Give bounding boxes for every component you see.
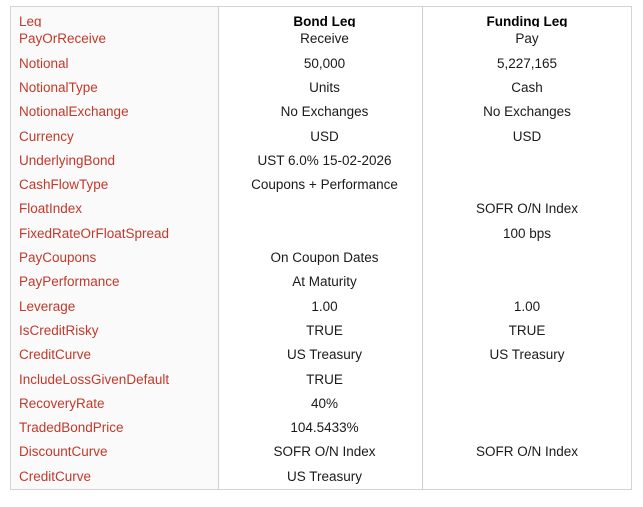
label-cell: DiscountCurve bbox=[19, 440, 218, 464]
funding-leg-cell bbox=[423, 368, 631, 392]
bond-leg-cell: 50,000 bbox=[227, 52, 422, 76]
funding-leg-cell: US Treasury bbox=[423, 343, 631, 367]
bond-leg-cell bbox=[227, 197, 422, 221]
bond-leg-cell: TRUE bbox=[227, 368, 422, 392]
label-cell: TradedBondPrice bbox=[19, 416, 218, 440]
column-funding-leg: Funding Leg Pay5,227,165CashNo Exchanges… bbox=[423, 7, 631, 489]
bond-leg-cell: US Treasury bbox=[227, 465, 422, 489]
funding-leg-cell: 5,227,165 bbox=[423, 52, 631, 76]
funding-leg-cell: Pay bbox=[423, 27, 631, 51]
column-gutter bbox=[219, 7, 227, 489]
funding-leg-cell: SOFR O/N Index bbox=[423, 440, 631, 464]
bond-leg-cell: SOFR O/N Index bbox=[227, 440, 422, 464]
funding-leg-cell: Cash bbox=[423, 76, 631, 100]
label-cell: PayPerformance bbox=[19, 270, 218, 294]
term-sheet-table: Leg PayOrReceiveNotionalNotionalTypeNoti… bbox=[10, 6, 632, 490]
label-cell: Leverage bbox=[19, 295, 218, 319]
label-cell: UnderlyingBond bbox=[19, 149, 218, 173]
funding-leg-cell bbox=[423, 173, 631, 197]
funding-leg-cell bbox=[423, 149, 631, 173]
label-cell: Notional bbox=[19, 52, 218, 76]
funding-leg-cell: 1.00 bbox=[423, 295, 631, 319]
bond-leg-cell: On Coupon Dates bbox=[227, 246, 422, 270]
column-labels: Leg PayOrReceiveNotionalNotionalTypeNoti… bbox=[11, 7, 219, 489]
bond-leg-cell: 1.00 bbox=[227, 295, 422, 319]
bond-leg-cell: No Exchanges bbox=[227, 100, 422, 124]
label-cell: PayOrReceive bbox=[19, 27, 218, 51]
bond-leg-cell: 104.5433% bbox=[227, 416, 422, 440]
funding-leg-cell: 100 bps bbox=[423, 222, 631, 246]
bond-leg-cell: USD bbox=[227, 125, 422, 149]
funding-leg-cell bbox=[423, 465, 631, 489]
bond-leg-cell: At Maturity bbox=[227, 270, 422, 294]
funding-leg-cell bbox=[423, 246, 631, 270]
bond-leg-cell: Receive bbox=[227, 27, 422, 51]
label-cell: IncludeLossGivenDefault bbox=[19, 368, 218, 392]
label-cell: FloatIndex bbox=[19, 197, 218, 221]
label-cell: CashFlowType bbox=[19, 173, 218, 197]
label-cell: IsCreditRisky bbox=[19, 319, 218, 343]
column-bond-leg: Bond Leg Receive50,000UnitsNo ExchangesU… bbox=[227, 7, 423, 489]
bond-leg-cell: TRUE bbox=[227, 319, 422, 343]
column-header-bond-leg: Bond Leg bbox=[227, 10, 422, 27]
column-header-funding-leg: Funding Leg bbox=[423, 10, 631, 27]
funding-cells-container: Pay5,227,165CashNo ExchangesUSDSOFR O/N … bbox=[423, 27, 631, 489]
funding-leg-cell: No Exchanges bbox=[423, 100, 631, 124]
label-cell: FixedRateOrFloatSpread bbox=[19, 222, 218, 246]
label-cell: CreditCurve bbox=[19, 465, 218, 489]
bond-cells-container: Receive50,000UnitsNo ExchangesUSDUST 6.0… bbox=[227, 27, 422, 489]
bond-leg-cell: UST 6.0% 15-02-2026 bbox=[227, 149, 422, 173]
label-cells-container: PayOrReceiveNotionalNotionalTypeNotional… bbox=[19, 27, 218, 489]
funding-leg-cell bbox=[423, 416, 631, 440]
label-cell: RecoveryRate bbox=[19, 392, 218, 416]
label-cell: NotionalType bbox=[19, 76, 218, 100]
label-cell: PayCoupons bbox=[19, 246, 218, 270]
bond-leg-cell: US Treasury bbox=[227, 343, 422, 367]
bond-leg-cell: Units bbox=[227, 76, 422, 100]
bond-leg-cell bbox=[227, 222, 422, 246]
funding-leg-cell: SOFR O/N Index bbox=[423, 197, 631, 221]
bond-leg-cell: Coupons + Performance bbox=[227, 173, 422, 197]
label-cell: CreditCurve bbox=[19, 343, 218, 367]
funding-leg-cell bbox=[423, 392, 631, 416]
bond-leg-cell: 40% bbox=[227, 392, 422, 416]
funding-leg-cell bbox=[423, 270, 631, 294]
label-cell: NotionalExchange bbox=[19, 100, 218, 124]
funding-leg-cell: TRUE bbox=[423, 319, 631, 343]
funding-leg-cell: USD bbox=[423, 125, 631, 149]
column-header-label: Leg bbox=[19, 10, 218, 27]
label-cell: Currency bbox=[19, 125, 218, 149]
